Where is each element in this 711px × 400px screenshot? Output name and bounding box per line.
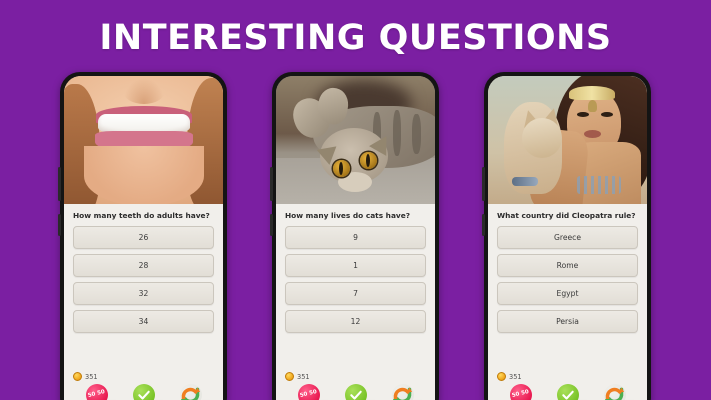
smiling-teeth-photo: [64, 76, 223, 204]
answer-option[interactable]: 7: [285, 282, 426, 305]
coin-count-label: 351: [297, 373, 310, 381]
swap-arrows-icon: [604, 384, 626, 400]
powerup-swap-question[interactable]: 100: [381, 384, 425, 400]
answer-list-2: 9 1 7 12: [276, 226, 435, 368]
powerup-correct-answer[interactable]: 30: [334, 384, 378, 400]
fifty-fifty-icon: 50 50: [298, 384, 320, 400]
question-bar-2: How many lives do cats have?: [276, 204, 435, 226]
answer-option[interactable]: 9: [285, 226, 426, 249]
phone-mockup-1: How many teeth do adults have? 26 28 32 …: [60, 72, 227, 400]
volume-button-icon: [270, 167, 273, 201]
powerup-correct-answer[interactable]: 30: [546, 384, 590, 400]
cat-lying-photo: [276, 76, 435, 204]
checkmark-icon: [345, 384, 367, 400]
answer-option[interactable]: Persia: [497, 310, 638, 333]
powerup-fifty-fifty[interactable]: 50 50 50: [75, 384, 119, 400]
question-bar-1: How many teeth do adults have?: [64, 204, 223, 226]
coin-icon: [285, 372, 294, 381]
bottom-bar-3: 351 50 50 50: [488, 368, 647, 400]
checkmark-icon: [133, 384, 155, 400]
phone-mockup-2: How many lives do cats have? 9 1 7 12 35…: [272, 72, 439, 400]
answer-list-1: 26 28 32 34: [64, 226, 223, 368]
phone-screen-3: What country did Cleopatra rule? Greece …: [488, 76, 647, 400]
coin-counter: 351: [285, 372, 426, 381]
volume-button-icon: [482, 167, 485, 201]
answer-option[interactable]: 28: [73, 254, 214, 277]
answer-option[interactable]: 26: [73, 226, 214, 249]
coin-counter: 351: [73, 372, 214, 381]
phone-showcase-row: How many teeth do adults have? 26 28 32 …: [0, 72, 711, 400]
powerup-row: 50 50 50 30: [285, 384, 426, 400]
question-text: How many lives do cats have?: [285, 212, 426, 221]
powerup-fifty-fifty[interactable]: 50 50 50: [499, 384, 543, 400]
phone-mockup-3: What country did Cleopatra rule? Greece …: [484, 72, 651, 400]
fifty-fifty-icon: 50 50: [510, 384, 532, 400]
fifty-fifty-label: 50 50: [87, 390, 105, 400]
answer-option[interactable]: Greece: [497, 226, 638, 249]
volume-button-icon: [58, 167, 61, 201]
answer-option[interactable]: 12: [285, 310, 426, 333]
phone-screen-1: How many teeth do adults have? 26 28 32 …: [64, 76, 223, 400]
question-bar-3: What country did Cleopatra rule?: [488, 204, 647, 226]
power-button-icon: [482, 214, 485, 236]
powerup-row: 50 50 50 30: [73, 384, 214, 400]
coin-counter: 351: [497, 372, 638, 381]
swap-arrows-icon: [180, 384, 202, 400]
powerup-swap-question[interactable]: 100: [593, 384, 637, 400]
answer-option[interactable]: 32: [73, 282, 214, 305]
page-title: INTERESTING QUESTIONS: [0, 18, 711, 58]
fifty-fifty-icon: 50 50: [86, 384, 108, 400]
coin-count-label: 351: [85, 373, 98, 381]
coin-icon: [73, 372, 82, 381]
question-text: How many teeth do adults have?: [73, 212, 214, 221]
answer-option[interactable]: 34: [73, 310, 214, 333]
answer-option[interactable]: 1: [285, 254, 426, 277]
bottom-bar-2: 351 50 50 50: [276, 368, 435, 400]
power-button-icon: [270, 214, 273, 236]
swap-arrows-icon: [392, 384, 414, 400]
answer-list-3: Greece Rome Egypt Persia: [488, 226, 647, 368]
answer-option[interactable]: Egypt: [497, 282, 638, 305]
powerup-row: 50 50 50 30: [497, 384, 638, 400]
phone-screen-2: How many lives do cats have? 9 1 7 12 35…: [276, 76, 435, 400]
checkmark-icon: [557, 384, 579, 400]
fifty-fifty-label: 50 50: [511, 390, 529, 400]
question-text: What country did Cleopatra rule?: [497, 212, 638, 221]
powerup-correct-answer[interactable]: 30: [122, 384, 166, 400]
coin-count-label: 351: [509, 373, 522, 381]
bottom-bar-1: 351 50 50 50: [64, 368, 223, 400]
cleopatra-photo: [488, 76, 647, 204]
powerup-swap-question[interactable]: 100: [169, 384, 213, 400]
powerup-fifty-fifty[interactable]: 50 50 50: [287, 384, 331, 400]
coin-icon: [497, 372, 506, 381]
fifty-fifty-label: 50 50: [299, 390, 317, 400]
answer-option[interactable]: Rome: [497, 254, 638, 277]
power-button-icon: [58, 214, 61, 236]
